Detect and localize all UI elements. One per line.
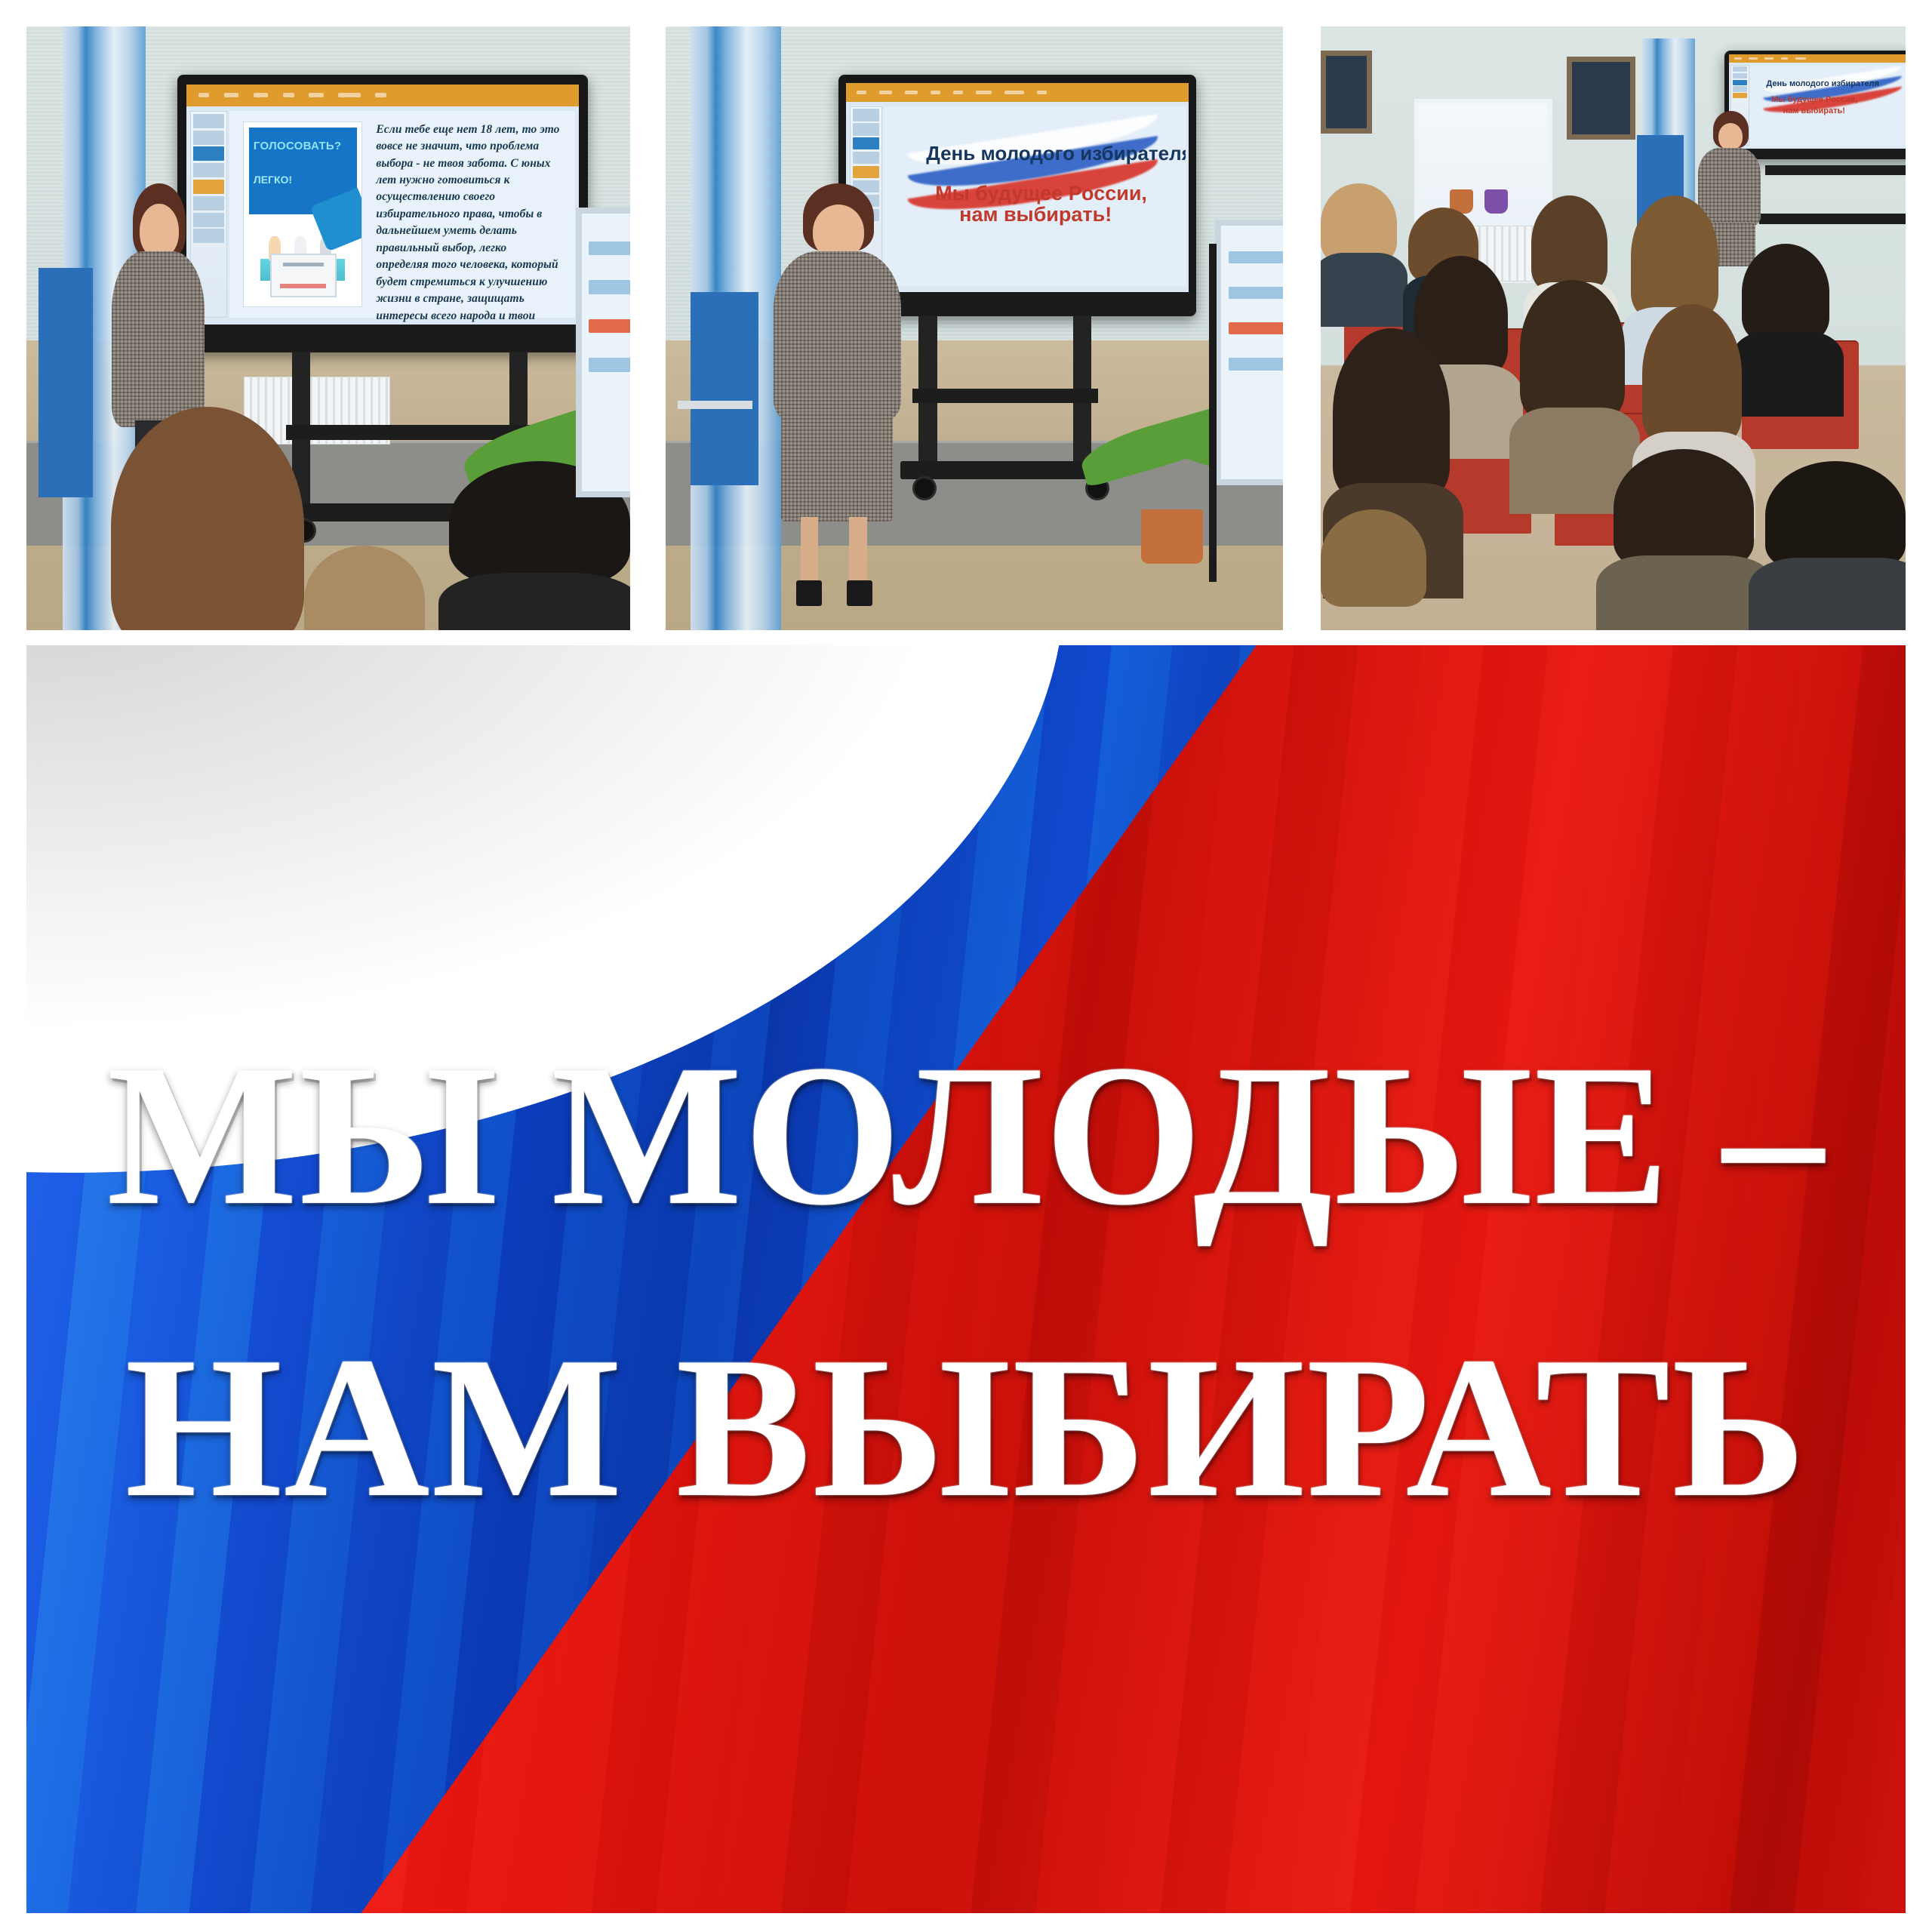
cart-shelf [1765, 165, 1906, 175]
wall-picture [1321, 51, 1372, 134]
plant-pot [1141, 509, 1203, 564]
audience-head [1520, 280, 1626, 485]
slide-subtitle-line2: нам выбирать! [1783, 106, 1845, 115]
slide-content-right: День молодого избирателя Мы будущее Росс… [1749, 65, 1906, 146]
photo-right: День молодого избирателя Мы будущее Росс… [1321, 26, 1906, 630]
wall-picture [1567, 57, 1636, 140]
banner-headline-line2: НАМ ВЫБИРАТЬ [26, 1330, 1906, 1524]
easel-post [1209, 244, 1217, 582]
info-board [1215, 220, 1283, 485]
audience-head [1321, 183, 1397, 316]
audience-head [1614, 449, 1754, 630]
photo-strip: ГОЛОСОВАТЬ? ЛЕГКО! Если тебе еще нет 18 … [0, 0, 1932, 645]
poster-title-line2: ЛЕГКО! [254, 174, 292, 186]
info-board [576, 208, 630, 497]
flag-banner: МЫ МОЛОДЫЕ – НАМ ВЫБИРАТЬ [26, 645, 1906, 1913]
plant-pot [1484, 189, 1508, 214]
audience-head [1765, 461, 1906, 630]
slide-subtitle-line1: Мы будущее России, [1771, 95, 1857, 104]
interactive-display: ГОЛОСОВАТЬ? ЛЕГКО! Если тебе еще нет 18 … [177, 75, 588, 352]
slide-title: День молодого избирателя [926, 142, 1185, 165]
slide-title: День молодого избирателя [1766, 79, 1879, 88]
side-table [678, 401, 752, 409]
slide-subtitle-line1: Мы будущее России, [935, 182, 1147, 205]
audience-head [304, 546, 425, 630]
display-bezel [177, 325, 588, 352]
slide-content-left: ГОЛОСОВАТЬ? ЛЕГКО! Если тебе еще нет 18 … [229, 111, 575, 318]
audience-head [1321, 509, 1426, 630]
audience-head [111, 407, 304, 630]
cart-base [1759, 214, 1906, 224]
poster-title-line1: ГОЛОСОВАТЬ? [254, 140, 352, 153]
app-toolbar[interactable] [846, 83, 1189, 102]
presenter [771, 183, 906, 606]
photo-center: День молодого избирателя Мы будущее Росс… [666, 26, 1283, 630]
photo-left: ГОЛОСОВАТЬ? ЛЕГКО! Если тебе еще нет 18 … [26, 26, 630, 630]
cart-caster [912, 476, 937, 500]
app-toolbar[interactable] [186, 85, 579, 106]
display-screen: ГОЛОСОВАТЬ? ЛЕГКО! Если тебе еще нет 18 … [186, 85, 579, 325]
blue-panel [38, 268, 93, 497]
slide-content-center: День молодого избирателя Мы будущее Росс… [884, 106, 1185, 286]
banner-headline-line1: МЫ МОЛОДЫЕ – [26, 1038, 1906, 1232]
banner-headline: МЫ МОЛОДЫЕ – НАМ ВЫБИРАТЬ [26, 1038, 1906, 1524]
collage-root: ГОЛОСОВАТЬ? ЛЕГКО! Если тебе еще нет 18 … [0, 0, 1932, 1932]
cart-base [900, 461, 1110, 479]
app-toolbar[interactable] [1729, 54, 1906, 63]
blue-panel [691, 292, 758, 485]
voting-poster: ГОЛОСОВАТЬ? ЛЕГКО! [243, 122, 362, 307]
audience-head [1742, 244, 1829, 401]
slide-subtitle-line2: нам выбирать! [959, 203, 1112, 226]
ballot-box-illustration [270, 254, 337, 297]
cart-shelf [912, 389, 1097, 403]
slide-body-text: Если тебе еще нет 18 лет, то это вовсе н… [369, 111, 575, 318]
